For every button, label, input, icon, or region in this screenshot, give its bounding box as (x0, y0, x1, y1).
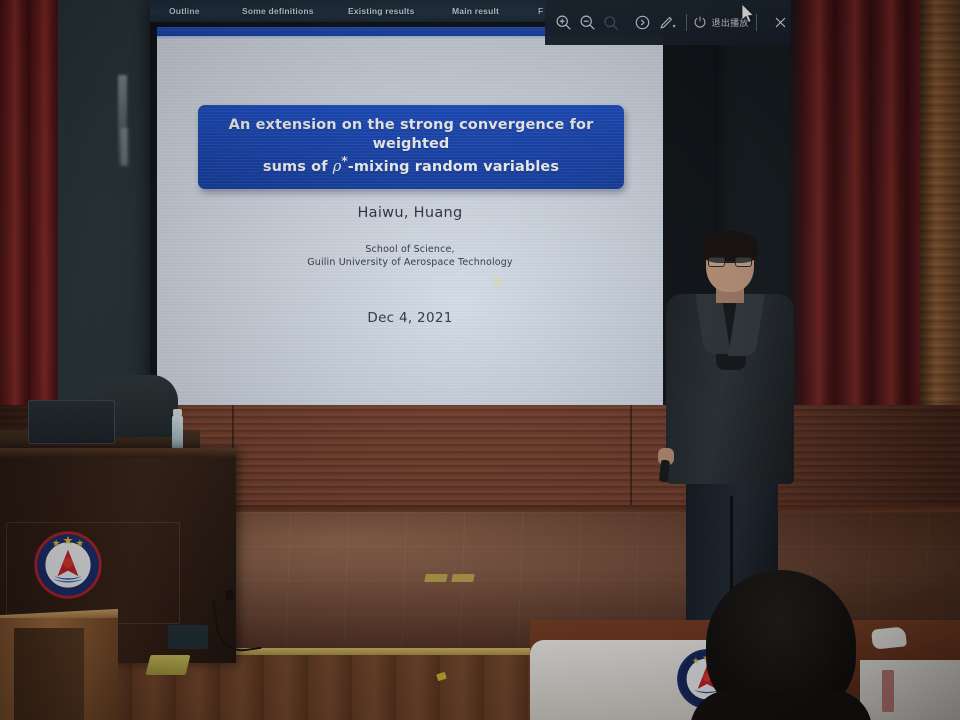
yellow-floor-pad (146, 655, 191, 675)
university-emblem-podium (33, 530, 103, 600)
affiliation-line1: School of Science, (365, 244, 454, 255)
zoom-out-button[interactable] (577, 10, 599, 36)
slide-title-line2-post: -mixing random variables (348, 159, 559, 175)
laser-pointer-dot (494, 279, 501, 285)
table-cloth-right (860, 660, 960, 720)
glasses-lens-left (708, 257, 725, 267)
wall-panel-left (58, 0, 163, 430)
water-bottle-cap (173, 409, 182, 416)
microphone-base (226, 590, 234, 600)
zoom-in-button[interactable] (553, 10, 575, 36)
floor-marker-2 (451, 574, 475, 582)
presentation-slide[interactable]: An extension on the strong convergence f… (157, 27, 663, 417)
pen-tool-button[interactable]: ▾ (655, 10, 677, 36)
nav-item-further-results[interactable]: F (538, 6, 543, 16)
slide-title-box: An extension on the strong convergence f… (198, 105, 624, 189)
mouse-cursor (742, 4, 756, 24)
laser-pointer-button[interactable] (632, 10, 654, 36)
slide-title: An extension on the strong convergence f… (212, 116, 610, 177)
podium-front-inner-panel (14, 628, 84, 720)
slide-date: Dec 4, 2021 (157, 310, 663, 326)
slat-seam-right (630, 405, 632, 510)
tissue (871, 626, 907, 649)
podium-top-edge (0, 448, 236, 458)
slide-affiliation: School of Science, Guilin University of … (157, 243, 663, 269)
water-bottle (172, 415, 183, 449)
glasses-bridge (725, 261, 735, 262)
exit-playback-button[interactable]: 退出播放 (693, 15, 748, 31)
laptop[interactable] (28, 400, 115, 444)
banner-text-mark (882, 670, 894, 712)
toolbar-divider (686, 14, 687, 31)
nav-item-main-result[interactable]: Main result (452, 6, 499, 16)
wall-reflection-secondary (121, 128, 128, 166)
slide-title-line2-pre: sums of (263, 159, 333, 175)
floor-marker-1 (424, 574, 448, 582)
chevron-down-icon[interactable]: ▾ (673, 23, 676, 30)
glasses-icon (708, 257, 752, 267)
close-button[interactable] (770, 10, 792, 36)
affiliation-line2: Guilin University of Aerospace Technolog… (307, 257, 512, 268)
nav-item-existing-results[interactable]: Existing results (348, 6, 415, 16)
slide-title-line1: An extension on the strong convergence f… (229, 117, 594, 152)
nav-item-some-definitions[interactable]: Some definitions (242, 6, 314, 16)
glasses-lens-right (735, 257, 752, 267)
power-icon (693, 15, 707, 31)
floor-speaker (168, 625, 208, 649)
search-icon-button[interactable] (600, 10, 622, 36)
presentation-room-screenshot: An extension on the strong convergence f… (0, 0, 960, 720)
nav-item-outline[interactable]: Outline (169, 6, 200, 16)
audience-member-shoulders (690, 690, 872, 720)
slide-author: Haiwu, Huang (157, 205, 663, 221)
